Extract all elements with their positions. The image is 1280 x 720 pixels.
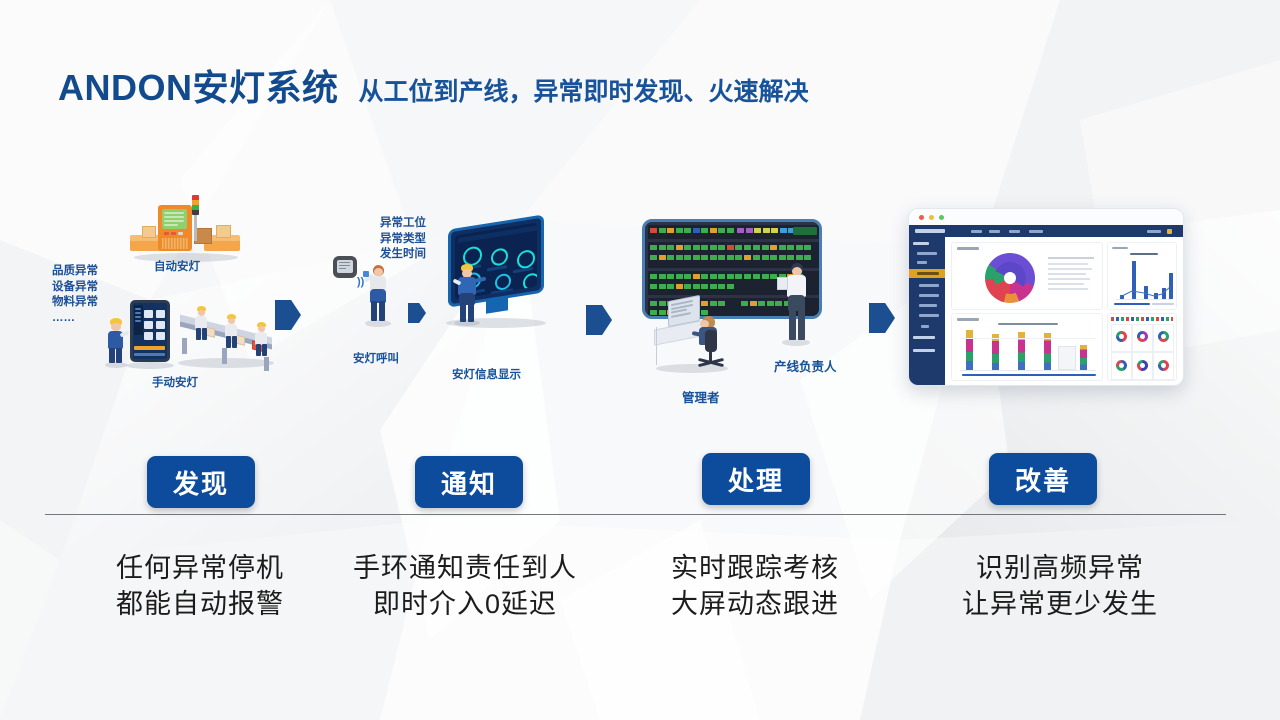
- alert-field: 异常类型: [380, 232, 426, 248]
- caption-line: 让异常更少发生: [930, 586, 1190, 622]
- step-caption-handle: 实时跟踪考核 大屏动态跟进: [625, 550, 885, 622]
- analytics-dashboard-graphic: [908, 208, 1184, 386]
- assembly-line-graphic: [178, 300, 274, 370]
- step-badge-discover[interactable]: 发现: [147, 456, 255, 508]
- andon-call-label: 安灯呼叫: [353, 350, 399, 366]
- step-caption-improve: 识别高频异常 让异常更少发生: [930, 550, 1190, 622]
- dashboard-topnav: [909, 225, 1183, 237]
- window-titlebar: [909, 209, 1183, 226]
- andon-info-display-graphic: [440, 218, 552, 328]
- window-close-dot: [919, 215, 924, 220]
- window-minimize-dot: [929, 215, 934, 220]
- anomaly-item: 物料异常: [52, 295, 98, 311]
- divider-line: [45, 514, 1226, 515]
- anomaly-item: ……: [52, 311, 98, 327]
- anomaly-item: 品质异常: [52, 264, 98, 280]
- alert-field: 异常工位: [380, 216, 426, 232]
- manual-andon-label: 手动安灯: [152, 374, 198, 390]
- step-caption-notify: 手环通知责任到人 即时介入0延迟: [330, 550, 600, 622]
- andon-info-display-label: 安灯信息显示: [452, 366, 521, 382]
- step-badge-notify[interactable]: 通知: [415, 456, 523, 508]
- dashboard-sidebar: [909, 237, 945, 385]
- auto-andon-machine-graphic: [130, 195, 240, 265]
- alert-field-list: 异常工位 异常类型 发生时间: [380, 216, 426, 263]
- anomaly-item: 设备异常: [52, 280, 98, 296]
- step-badge-handle[interactable]: 处理: [702, 453, 810, 505]
- caption-line: 识别高频异常: [930, 550, 1190, 586]
- caption-line: 都能自动报警: [70, 586, 330, 622]
- bar-line-chart-card: [1107, 242, 1177, 310]
- caption-line: 大屏动态跟进: [625, 586, 885, 622]
- window-maximize-dot: [939, 215, 944, 220]
- caption-line: 即时介入0延迟: [330, 586, 600, 622]
- worker-calling-figure: [363, 265, 393, 327]
- step-caption-discover: 任何异常停机 都能自动报警: [70, 550, 330, 622]
- line-owner-label: 产线负责人: [774, 356, 837, 375]
- anomaly-type-list: 品质异常 设备异常 物料异常 ……: [52, 264, 98, 326]
- mini-donuts-card: [1107, 313, 1177, 381]
- donut-chart-card: [951, 242, 1103, 310]
- manager-desk-graphic: [652, 294, 732, 376]
- step-badge-improve[interactable]: 改善: [989, 453, 1097, 505]
- caption-line: 实时跟踪考核: [625, 550, 885, 586]
- page-title: ANDON安灯系统 从工位到产线，异常即时发现、火速解决: [58, 70, 809, 106]
- title-subtitle: 从工位到产线，异常即时发现、火速解决: [359, 80, 809, 105]
- manager-label: 管理者: [682, 387, 720, 406]
- manual-andon-kiosk-graphic: [122, 300, 177, 370]
- auto-andon-label: 自动安灯: [154, 258, 200, 274]
- slide-canvas: ANDON安灯系统 从工位到产线，异常即时发现、火速解决 品质异常 设备异常 物…: [0, 0, 1280, 720]
- line-owner-figure: [779, 263, 813, 347]
- caption-line: 任何异常停机: [70, 550, 330, 586]
- caption-line: 手环通知责任到人: [330, 550, 600, 586]
- worker-figure: [104, 318, 130, 368]
- smartwatch-icon: [333, 256, 357, 278]
- alert-field: 发生时间: [380, 247, 426, 263]
- title-main: ANDON安灯系统: [58, 70, 339, 106]
- stacked-bar-chart-card: [951, 313, 1103, 381]
